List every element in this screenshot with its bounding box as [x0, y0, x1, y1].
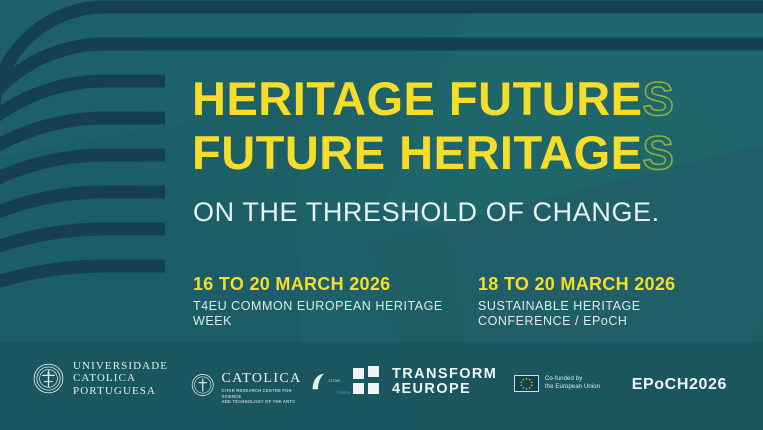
ucp-wordmark: UNIVERSIDADE CATOLICA PORTUGUESA [73, 360, 168, 398]
grid-square-bottom-right [368, 383, 379, 394]
date-description-1: T4EU COMMON EUROPEAN HERITAGE WEEK [193, 299, 478, 329]
date-block-heritage-week: 16 TO 20 MARCH 2026 T4EU COMMON EUROPEAN… [193, 273, 478, 329]
event-poster: HERITAGE FUTURES FUTURE HERITAGES ON THE… [0, 0, 763, 430]
citar-partner-mark: CITAR [310, 373, 340, 390]
eu-label-line-1: Co-funded by [545, 376, 600, 383]
ucp-line-2: CATOLICA [73, 372, 168, 385]
headline-line-1: HERITAGE FUTURES [192, 72, 674, 126]
catolica-row: CATOLICA CITAR RESEARCH CENTRE FOR SCIEN… [191, 371, 304, 404]
eu-stars-icon [515, 376, 538, 391]
date-range-1: 16 TO 20 MARCH 2026 [193, 273, 478, 295]
ucp-line-1: UNIVERSIDADE [73, 360, 168, 373]
logo-european-union: Co-funded by the European Union [514, 375, 600, 392]
logo-universidade-catolica-portuguesa: UNIVERSIDADE CATOLICA PORTUGUESA [33, 360, 168, 398]
t4e-line-2: 4EUROPE [392, 382, 497, 397]
eu-label-line-2: the European Union [545, 384, 600, 391]
ucp-seal-icon [33, 363, 64, 394]
epoch-2026-wordmark: EPoCH2026 [632, 376, 727, 394]
transform4europe-grid-icon [353, 368, 381, 396]
catolica-footnote: PORTO [337, 391, 350, 395]
date-description-2-line-1: SUSTAINABLE HERITAGE [478, 299, 675, 314]
catolica-seal-icon [191, 372, 214, 398]
logo-catolica-citar: CATOLICA CITAR RESEARCH CENTRE FOR SCIEN… [191, 371, 336, 404]
date-description-1-line-1: T4EU COMMON EUROPEAN HERITAGE [193, 299, 478, 314]
transform4europe-wordmark: TRANSFORM 4EUROPE [392, 367, 497, 397]
headline-line-1-solid: HERITAGE FUTURE [192, 72, 643, 125]
catolica-wordmark: CATOLICA [221, 371, 304, 386]
eu-funding-label: Co-funded by the European Union [545, 376, 600, 391]
grid-square-top-right [368, 366, 379, 377]
headline-line-2-solid: FUTURE HERITAGE [192, 126, 643, 179]
date-description-2-line-2: CONFERENCE / EPoCH [478, 314, 675, 329]
citar-swoosh-icon [310, 373, 326, 390]
date-blocks: 16 TO 20 MARCH 2026 T4EU COMMON EUROPEAN… [193, 273, 675, 329]
citar-description: CITAR RESEARCH CENTRE FOR SCIENCE AND TE… [221, 388, 304, 404]
eu-flag-icon [514, 375, 539, 392]
date-range-2: 18 TO 20 MARCH 2026 [478, 273, 675, 295]
headline-block: HERITAGE FUTURES FUTURE HERITAGES [192, 72, 674, 180]
date-description-1-line-2: WEEK [193, 314, 478, 329]
logo-transform4europe: TRANSFORM 4EUROPE [353, 367, 497, 397]
headline-line-2: FUTURE HERITAGES [192, 126, 674, 180]
sub-headline: ON THE THRESHOLD OF CHANGE. [193, 197, 660, 227]
citar-partner-label: CITAR [328, 379, 340, 383]
date-description-2: SUSTAINABLE HERITAGE CONFERENCE / EPoCH [478, 299, 675, 329]
ucp-line-3: PORTUGUESA [73, 385, 168, 398]
citar-description-line-1: CITAR RESEARCH CENTRE FOR SCIENCE [221, 388, 304, 398]
t4e-line-1: TRANSFORM [392, 367, 497, 382]
citar-description-line-2: AND TECHNOLOGY OF THE ARTS [221, 399, 304, 404]
headline-line-2-ghost: S [643, 126, 675, 179]
grid-square-bottom-left [353, 383, 364, 394]
grid-square-top-left [353, 368, 364, 379]
date-block-conference: 18 TO 20 MARCH 2026 SUSTAINABLE HERITAGE… [478, 273, 675, 329]
catolica-text-group: CATOLICA CITAR RESEARCH CENTRE FOR SCIEN… [221, 371, 304, 404]
headline-line-1-ghost: S [643, 72, 675, 125]
